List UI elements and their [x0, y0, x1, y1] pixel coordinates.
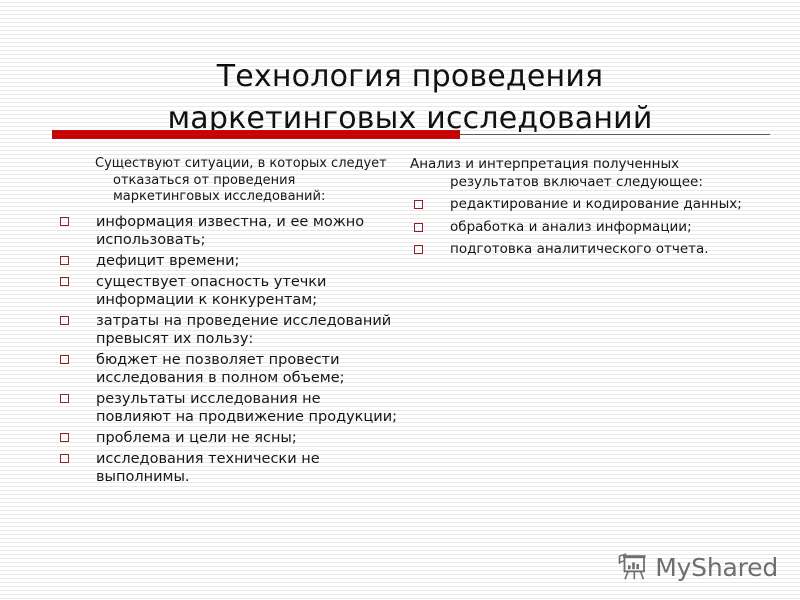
- content-column-right: Анализ и интерпретация полученных резуль…: [405, 156, 750, 264]
- list-item: информация известна, и ее можно использо…: [55, 213, 400, 249]
- square-bullet-icon: [60, 394, 69, 403]
- list-item: бюджет не позволяет провести исследовани…: [55, 351, 400, 387]
- square-bullet-icon: [414, 245, 423, 254]
- list-item-label: проблема и цели не ясны;: [96, 430, 297, 446]
- square-bullet-icon: [60, 277, 69, 286]
- myshared-watermark-label: MyShared: [655, 555, 778, 580]
- right-bullet-list: редактирование и кодирование данных;обра…: [405, 196, 750, 259]
- list-item-label: подготовка аналитического отчета.: [450, 241, 709, 257]
- slide-canvas: Технология проведения маркетинговых иссл…: [0, 0, 800, 600]
- list-item-label: исследования технически не выполнимы.: [96, 451, 320, 485]
- square-bullet-icon: [60, 217, 69, 226]
- title-divider: [52, 130, 770, 140]
- list-item-label: результаты исследования не повлияют на п…: [96, 391, 397, 425]
- presentation-board-chart-icon: [616, 552, 648, 582]
- list-item-label: информация известна, и ее можно использо…: [96, 214, 364, 248]
- content-column-left: Существуют ситуации, в которых следует о…: [55, 156, 400, 489]
- square-bullet-icon: [60, 316, 69, 325]
- list-item-label: затраты на проведение исследований превы…: [96, 313, 391, 347]
- divider-accent-bar: [52, 130, 460, 139]
- left-bullet-list: информация известна, и ее можно использо…: [55, 213, 400, 486]
- list-item-label: бюджет не позволяет провести исследовани…: [96, 352, 345, 386]
- list-item: дефицит времени;: [55, 252, 400, 270]
- right-intro-paragraph: Анализ и интерпретация полученных резуль…: [405, 156, 750, 191]
- list-item: исследования технически не выполнимы.: [55, 450, 400, 486]
- list-item: обработка и анализ информации;: [405, 219, 750, 237]
- list-item: редактирование и кодирование данных;: [405, 196, 750, 214]
- list-item: проблема и цели не ясны;: [55, 429, 400, 447]
- list-item-label: существует опасность утечки информации к…: [96, 274, 327, 308]
- square-bullet-icon: [60, 454, 69, 463]
- list-item: результаты исследования не повлияют на п…: [55, 390, 400, 426]
- list-item: затраты на проведение исследований превы…: [55, 312, 400, 348]
- square-bullet-icon: [60, 256, 69, 265]
- left-intro-paragraph: Существуют ситуации, в которых следует о…: [55, 156, 400, 206]
- square-bullet-icon: [60, 355, 69, 364]
- list-item-label: редактирование и кодирование данных;: [450, 196, 742, 212]
- list-item: существует опасность утечки информации к…: [55, 273, 400, 309]
- square-bullet-icon: [60, 433, 69, 442]
- list-item-label: обработка и анализ информации;: [450, 219, 692, 235]
- myshared-watermark: MyShared: [616, 552, 778, 582]
- list-item: подготовка аналитического отчета.: [405, 241, 750, 259]
- list-item-label: дефицит времени;: [96, 253, 239, 269]
- page-title: Технология проведения маркетинговых иссл…: [60, 56, 760, 140]
- square-bullet-icon: [414, 200, 423, 209]
- square-bullet-icon: [414, 223, 423, 232]
